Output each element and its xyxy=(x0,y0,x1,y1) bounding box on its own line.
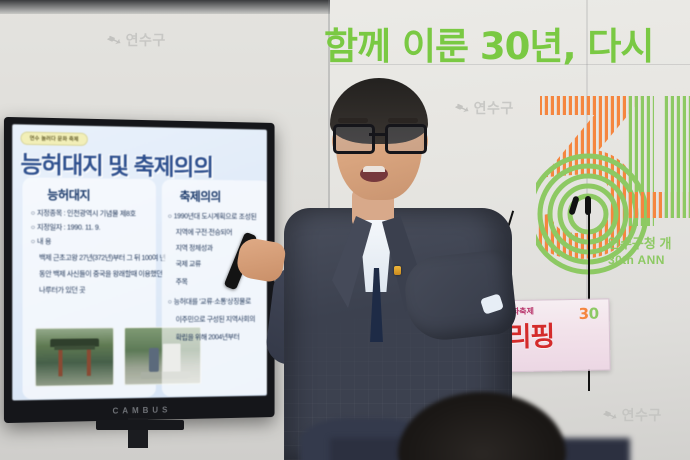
anniversary-caption-en: 30th ANN xyxy=(608,252,690,268)
slide-continuation: 지역 정체성과 xyxy=(176,243,213,253)
slide-continuation: 백제 근초고왕 27년(372년)부터 그 뒤 100여 년 xyxy=(39,253,165,263)
pavilion-column xyxy=(87,350,91,376)
bullet-ring-icon: ○ xyxy=(168,299,172,306)
wall-headline: 함께 이룬 30년, 다시 xyxy=(324,14,690,72)
speaker-brow-right xyxy=(388,118,418,123)
speaker-teeth xyxy=(363,166,385,172)
lens-right xyxy=(385,124,427,154)
display-bezel: 연수 놀러다 문화 축제 능허대지 및 축제의의 능허대지 ○지정종목 : 인천… xyxy=(12,124,267,400)
slide-continuation: 주목 xyxy=(176,277,188,287)
slide-continuation: 지역에 구전·전승되어 xyxy=(176,227,232,237)
eyeglasses-icon xyxy=(333,124,425,148)
anniversary-caption-kr: 연수구청 개 xyxy=(608,236,690,252)
bullet-ring-icon: ○ xyxy=(31,238,35,245)
panel-heading-right: 축제의의 xyxy=(180,187,221,204)
microphone-head-right xyxy=(585,196,591,215)
slide-badge: 연수 놀러다 문화 축제 xyxy=(20,132,87,146)
panel-heading-left: 능허대지 xyxy=(47,186,90,204)
watermark-label: 연수구 xyxy=(622,405,662,425)
press-briefing-photo: ➷ 연수구 ➷ 연수구 ➷ 연수구 함께 이룬 30년, 다시 xyxy=(0,0,690,460)
yeonsu-mark-icon: ➷ xyxy=(600,404,620,425)
pavilion-column xyxy=(58,350,62,376)
speaker-right-arm xyxy=(402,249,518,344)
slide-continuation: 확립을 위해 2004년부터 xyxy=(176,332,240,343)
watermark-label: 연수구 xyxy=(126,30,166,50)
presentation-slide: 연수 놀러다 문화 축제 능허대지 및 축제의의 능허대지 ○지정종목 : 인천… xyxy=(12,124,267,400)
monument-back-stone xyxy=(149,348,159,372)
yeonsu-mark-icon: ➷ xyxy=(104,29,124,50)
slide-title: 능허대지 및 축제의의 xyxy=(20,145,213,182)
slide-continuation: 국제 교류 xyxy=(176,259,201,269)
display-brand-label: CAMBUS xyxy=(4,403,275,418)
bullet-ring-icon: ○ xyxy=(31,210,35,217)
placard-mini-30-logo: 3 0 xyxy=(578,304,602,324)
speaker-brow-left xyxy=(338,118,368,123)
slide-bullet: ○지정일자 : 1990. 11. 9. xyxy=(31,222,100,233)
bullet-ring-icon: ○ xyxy=(31,224,35,231)
bullet-ring-icon: ○ xyxy=(168,213,172,220)
slide-bullet: ○능허대를 '교류·소통'상징물로 xyxy=(168,297,251,307)
slide-bullet: ○지정종목 : 인천광역시 기념물 제8호 xyxy=(31,208,136,219)
lens-left xyxy=(333,124,375,154)
slide-bullet: ○1990년대 도시계획으로 조성된 xyxy=(168,211,257,222)
svg-text:0: 0 xyxy=(588,305,599,323)
display-stand xyxy=(96,420,184,430)
slide-continuation: 나루터가 있던 곳 xyxy=(39,285,85,295)
anniversary-caption: 연수구청 개 30th ANN xyxy=(608,236,690,268)
slide-photo-pavilion xyxy=(35,327,114,387)
ceiling-edge xyxy=(0,0,330,14)
lapel-pin-icon xyxy=(394,266,401,275)
wall-watermark-logo: ➷ 연수구 xyxy=(108,30,166,50)
wall-watermark-logo: ➷ 연수구 xyxy=(604,405,662,425)
slide-continuation: 이주민으로 구성된 지역사회의 xyxy=(176,314,255,324)
slide-bullet: ○내 용 xyxy=(31,236,51,246)
slide-continuation: 동안 백제 사신들이 중국을 왕래할때 이용했던 xyxy=(39,269,162,279)
